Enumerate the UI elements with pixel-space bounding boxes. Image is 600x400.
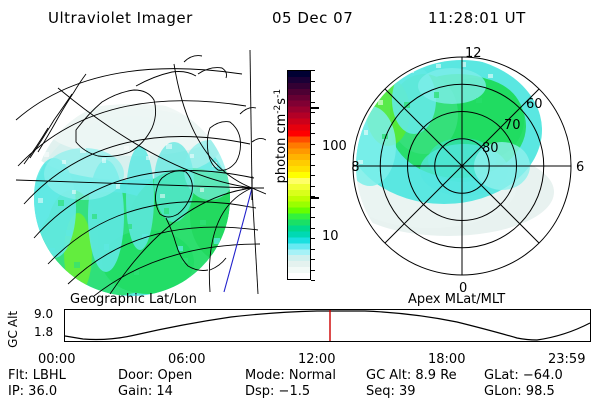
status-seq: Seq: 39 [366, 384, 416, 399]
mlt-label-12: 12 [465, 46, 482, 61]
pole-marker [242, 176, 264, 200]
status-gain: Gain: 14 [118, 384, 173, 399]
mlt-label-18: 18 [352, 160, 360, 175]
status-footer: Flt: LBHL Door: Open Mode: Normal GC Alt… [0, 368, 600, 400]
time-tick-4: 23:59 [548, 352, 585, 367]
gc-alt-tick-high: 9.0 [34, 307, 53, 321]
gc-alt-tick-low: 1.8 [34, 325, 53, 339]
mlat-label-80: 80 [482, 141, 499, 156]
time-tick-2: 12:00 [298, 352, 335, 367]
orbit-strip-section: Geographic Lat/Lon Apex MLat/MLT Alt GC … [0, 292, 600, 354]
status-ip: IP: 36.0 [8, 384, 57, 399]
time-tick-0: 00:00 [38, 352, 75, 367]
status-glon: GLon: 98.5 [484, 384, 555, 399]
colorbar-exponent-2: -1 [273, 89, 283, 98]
aurora-emission-data [14, 88, 266, 296]
gc-alt-label-bottom: GC [6, 322, 20, 356]
status-dsp: Dsp: −1.5 [245, 384, 310, 399]
time-tick-1: 06:00 [168, 352, 205, 367]
apex-plot-svg: 12 6 0 18 60 70 80 [352, 42, 598, 296]
apex-strip-title: Apex MLat/MLT [408, 292, 505, 307]
altitude-curve [65, 311, 590, 340]
status-filter: Flt: LBHL [8, 368, 66, 383]
uvi-screen: Ultraviolet Imager 05 Dec 07 11:28:01 UT [0, 0, 600, 400]
colorbar-gradient [288, 71, 310, 279]
orbit-altitude-chart[interactable] [64, 309, 591, 342]
time-tick-3: 18:00 [428, 352, 465, 367]
apex-dial-grid [353, 57, 571, 275]
colorbar-exponent-1: -2 [273, 105, 283, 114]
status-glat: GLat: −64.0 [484, 368, 563, 383]
instrument-title: Ultraviolet Imager [48, 9, 193, 27]
geographic-image-panel[interactable] [14, 48, 266, 296]
status-door: Door: Open [118, 368, 192, 383]
orbit-altitude-svg [65, 310, 590, 341]
header-bar: Ultraviolet Imager 05 Dec 07 11:28:01 UT [0, 6, 600, 32]
geographic-strip-title: Geographic Lat/Lon [70, 292, 197, 307]
mlt-label-6: 6 [576, 160, 584, 175]
mlat-label-60: 60 [526, 97, 543, 112]
apex-dial-panel[interactable]: 12 6 0 18 60 70 80 [352, 42, 598, 296]
mlat-label-70: 70 [504, 118, 521, 133]
status-mode: Mode: Normal [245, 368, 336, 383]
geographic-plot-svg [14, 48, 266, 296]
observation-time: 11:28:01 UT [428, 9, 526, 27]
colorbar-panel: photon cm-2s-1 100 10 [262, 62, 352, 288]
colorbar-label-10: 10 [322, 229, 339, 244]
observation-date: 05 Dec 07 [272, 9, 353, 27]
colorbar-tick-marks [311, 70, 319, 280]
status-gc-alt: GC Alt: 8.9 Re [366, 368, 457, 383]
colorbar-label-100: 100 [322, 139, 347, 154]
colorbar-gradient-box[interactable] [287, 70, 311, 280]
